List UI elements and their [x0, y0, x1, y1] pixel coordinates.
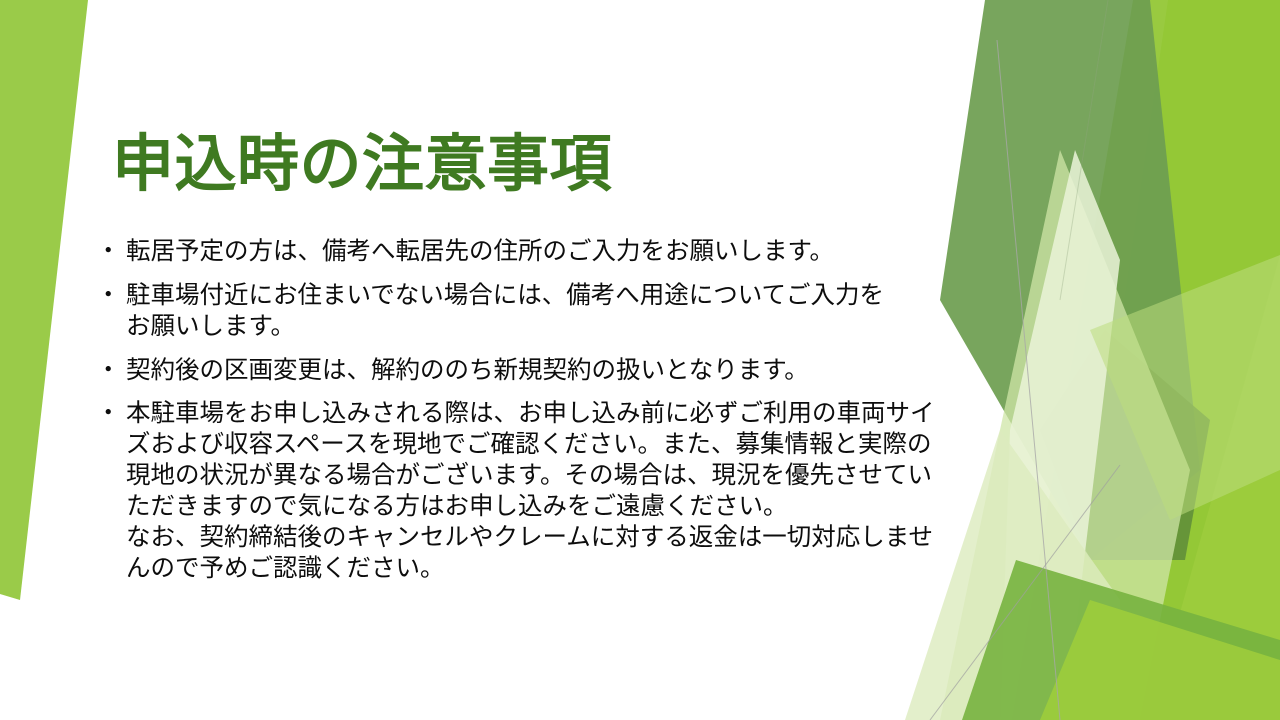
deep-green-overlap — [1040, 330, 1210, 560]
bullet-text: 本駐車場をお申し込みされる際は、お申し込み前に必ずご利用の車両サイ ズおよび収容… — [126, 398, 1046, 583]
bullet-marker-icon: ・ — [96, 236, 126, 267]
right-mid-green-column — [1012, 0, 1280, 720]
bottom-green-band — [962, 560, 1280, 720]
bullet-marker-icon: ・ — [96, 280, 126, 311]
bullet-text: 契約後の区画変更は、解約ののち新規契約の扱いとなります。 — [126, 355, 1046, 386]
list-item: ・ 本駐車場をお申し込みされる際は、お申し込み前に必ずご利用の車両サイ ズおよび… — [96, 398, 1046, 583]
slide-canvas: 申込時の注意事項 ・ 転居予定の方は、備考へ転居先の住所のご入力をお願いします。… — [0, 0, 1280, 720]
bullet-marker-icon: ・ — [96, 355, 126, 386]
slide-body: ・ 転居予定の方は、備考へ転居先の住所のご入力をお願いします。 ・ 駐車場付近に… — [96, 236, 1046, 584]
bullet-text: 駐車場付近にお住まいでない場合には、備考へ用途についてご入力を お願いします。 — [126, 280, 1046, 342]
bottom-bright-overlay — [1040, 600, 1280, 720]
list-item: ・ 転居予定の方は、備考へ転居先の住所のご入力をお願いします。 — [96, 236, 1046, 267]
slide-title: 申込時の注意事項 — [112, 131, 972, 196]
bullet-marker-icon: ・ — [96, 398, 126, 429]
hairline-short-upper — [1060, 0, 1108, 300]
right-bright-green-field — [1063, 0, 1280, 720]
bullet-text: 転居予定の方は、備考へ転居先の住所のご入力をお願いします。 — [126, 236, 1046, 267]
left-green-wedge — [0, 0, 88, 600]
light-translucent-overlay — [1090, 255, 1280, 520]
list-item: ・ 契約後の区画変更は、解約ののち新規契約の扱いとなります。 — [96, 355, 1046, 386]
list-item: ・ 駐車場付近にお住まいでない場合には、備考へ用途についてご入力を お願いします… — [96, 280, 1046, 342]
